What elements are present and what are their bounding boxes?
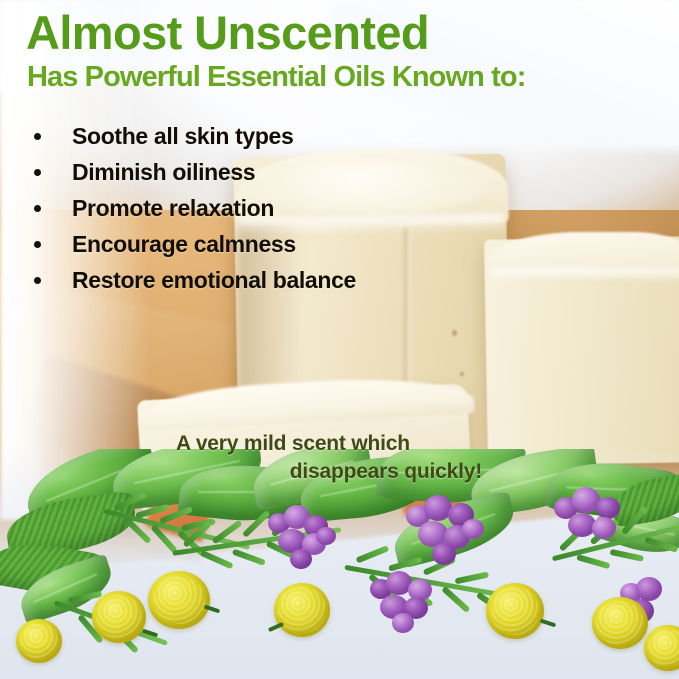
benefit-label: Restore emotional balance bbox=[72, 267, 356, 294]
page-title: Almost Unscented bbox=[26, 8, 429, 57]
subtitle: Has Powerful Essential Oils Known to: bbox=[27, 62, 525, 92]
benefit-label: Soothe all skin types bbox=[72, 123, 293, 150]
list-item: Diminish oiliness bbox=[28, 154, 458, 190]
bullet-icon bbox=[34, 169, 41, 176]
benefit-label: Promote relaxation bbox=[72, 195, 274, 222]
tagline-line-2: disappears quickly! bbox=[176, 458, 506, 486]
list-item: Encourage calmness bbox=[28, 226, 458, 262]
benefit-label: Encourage calmness bbox=[72, 231, 296, 258]
bullet-icon bbox=[34, 133, 41, 140]
product-benefits-ad: Almost Unscented Has Powerful Essential … bbox=[0, 0, 679, 679]
list-item: Restore emotional balance bbox=[28, 262, 458, 298]
list-item: Promote relaxation bbox=[28, 190, 458, 226]
benefits-list: Soothe all skin types Diminish oiliness … bbox=[28, 118, 458, 298]
bullet-icon bbox=[34, 205, 41, 212]
benefit-label: Diminish oiliness bbox=[72, 159, 255, 186]
bullet-icon bbox=[34, 241, 41, 248]
tagline-line-1: A very mild scent which bbox=[176, 430, 506, 458]
list-item: Soothe all skin types bbox=[28, 118, 458, 154]
scent-tagline: A very mild scent which disappears quick… bbox=[176, 430, 506, 485]
bullet-icon bbox=[34, 277, 41, 284]
ad-text-layer: Almost Unscented Has Powerful Essential … bbox=[0, 0, 679, 679]
